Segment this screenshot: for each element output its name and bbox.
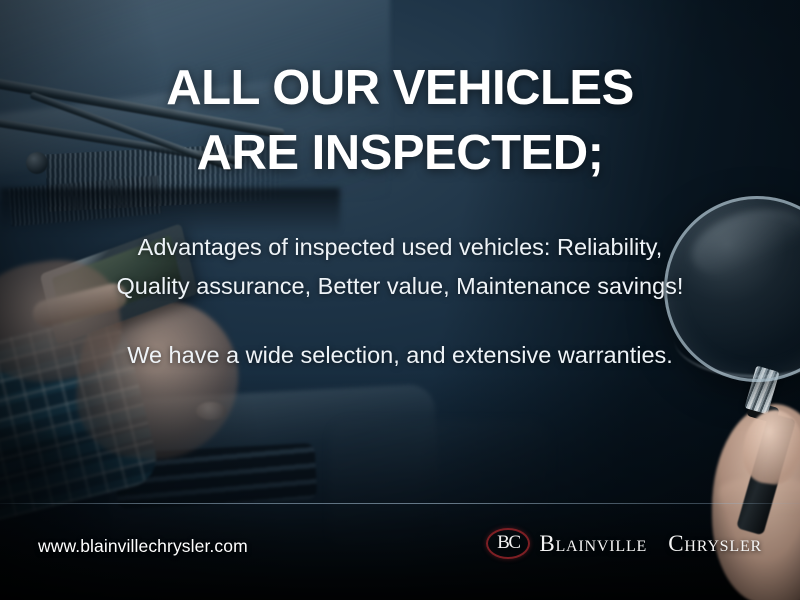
- headline-line-1: ALL OUR VEHICLES: [166, 61, 634, 115]
- headline: ALL OUR VEHICLES ARE INSPECTED;: [0, 56, 800, 185]
- body-copy: Advantages of inspected used vehicles: R…: [0, 228, 800, 375]
- footer-divider: [0, 503, 800, 504]
- advertisement-banner: ALL OUR VEHICLES ARE INSPECTED; Advantag…: [0, 0, 800, 600]
- logo-wordmark-part1: Blainville: [539, 531, 647, 556]
- body-paragraph-1: Advantages of inspected used vehicles: R…: [110, 228, 690, 306]
- logo-wordmark-part2: Chrysler: [668, 531, 762, 556]
- ad-content: ALL OUR VEHICLES ARE INSPECTED; Advantag…: [0, 0, 800, 600]
- website-url[interactable]: www.blainvillechrysler.com: [38, 536, 248, 557]
- dealership-logo[interactable]: BC Blainville Chrysler: [486, 528, 762, 559]
- logo-monogram-badge: BC: [486, 528, 530, 559]
- logo-wordmark: Blainville Chrysler: [539, 531, 762, 557]
- logo-monogram-text: BC: [486, 528, 530, 559]
- body-paragraph-2: We have a wide selection, and extensive …: [110, 336, 690, 375]
- headline-line-2: ARE INSPECTED;: [60, 121, 740, 186]
